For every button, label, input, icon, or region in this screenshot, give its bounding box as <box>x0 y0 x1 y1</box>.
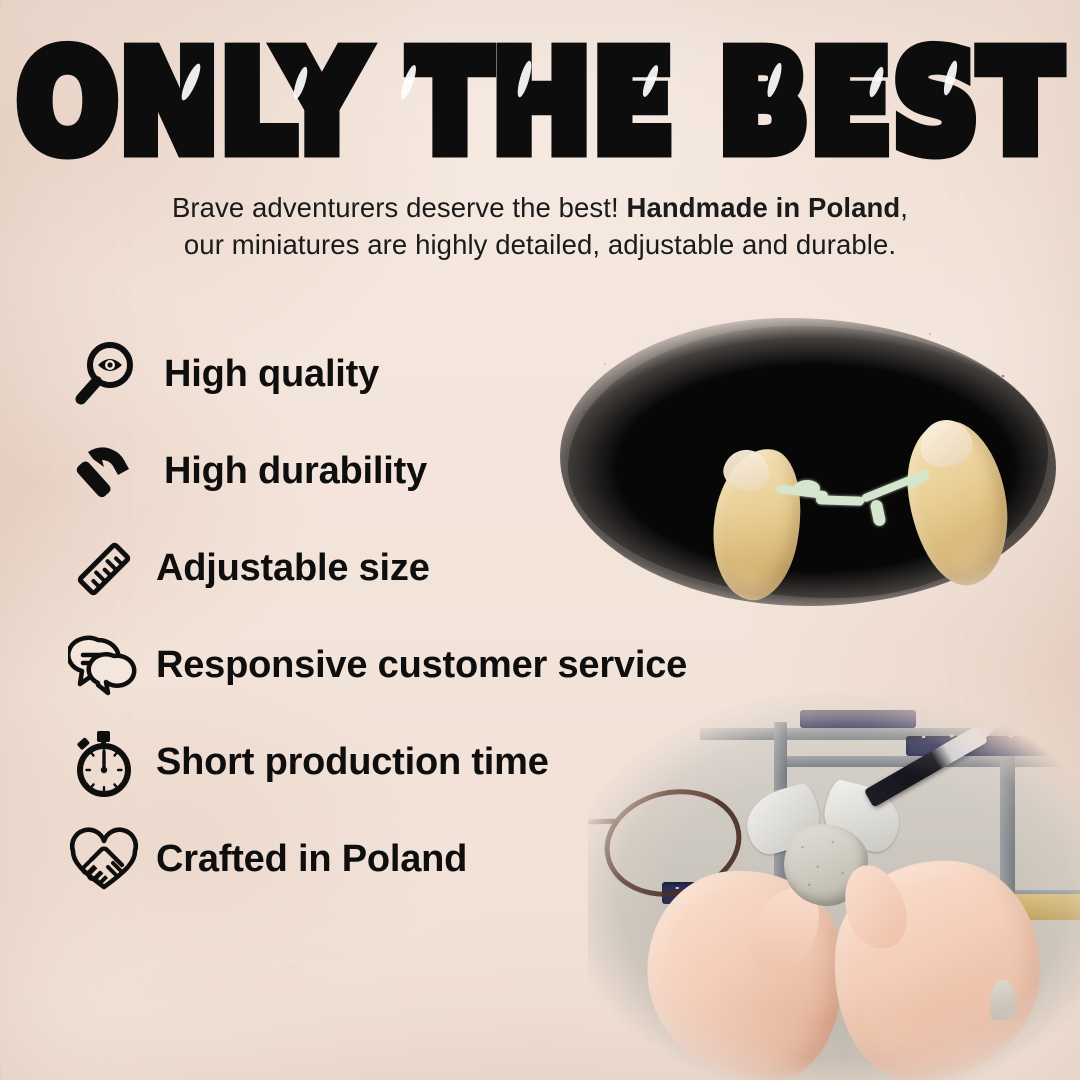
workshop-tray-top <box>800 710 916 728</box>
feature-label: Crafted in Poland <box>156 838 467 881</box>
subtitle-line-1: Brave adventurers deserve the best! Hand… <box>90 190 990 227</box>
photo-hands-detailing-dragon-miniature <box>588 694 1080 1080</box>
subtitle-bold-text: Handmade in Poland <box>627 192 901 223</box>
heart-handshake-icon <box>62 818 146 902</box>
subtitle: Brave adventurers deserve the best! Hand… <box>90 190 990 263</box>
hammer-icon <box>62 430 146 514</box>
ruler-icon <box>62 527 146 611</box>
miniature-part <box>776 474 936 530</box>
feature-label: High durability <box>164 450 427 493</box>
headline-block: ONLY THE BEST <box>0 0 1080 180</box>
subtitle-trailing-comma: , <box>900 192 908 223</box>
page-title: ONLY THE BEST <box>0 34 1080 171</box>
feature-label: Responsive customer service <box>156 644 687 687</box>
feature-label: High quality <box>164 353 379 396</box>
feature-label: Short production time <box>156 741 549 784</box>
photo-bottom-inner <box>588 694 1080 1080</box>
photo-fingers-holding-miniature <box>528 308 1080 628</box>
subtitle-lead-text: Brave adventurers deserve the best! <box>172 192 627 223</box>
small-miniature-figure <box>990 980 1016 1020</box>
magnifier-eye-icon <box>62 333 146 417</box>
stopwatch-icon <box>62 721 146 805</box>
subtitle-line-2: our miniatures are highly detailed, adju… <box>90 227 990 264</box>
feature-label: Adjustable size <box>156 547 430 590</box>
speech-bubbles-icon <box>62 624 146 708</box>
photo-top-inner <box>528 308 1080 628</box>
promo-canvas: ONLY THE BEST Brave adventurers deserve … <box>0 0 1080 1080</box>
